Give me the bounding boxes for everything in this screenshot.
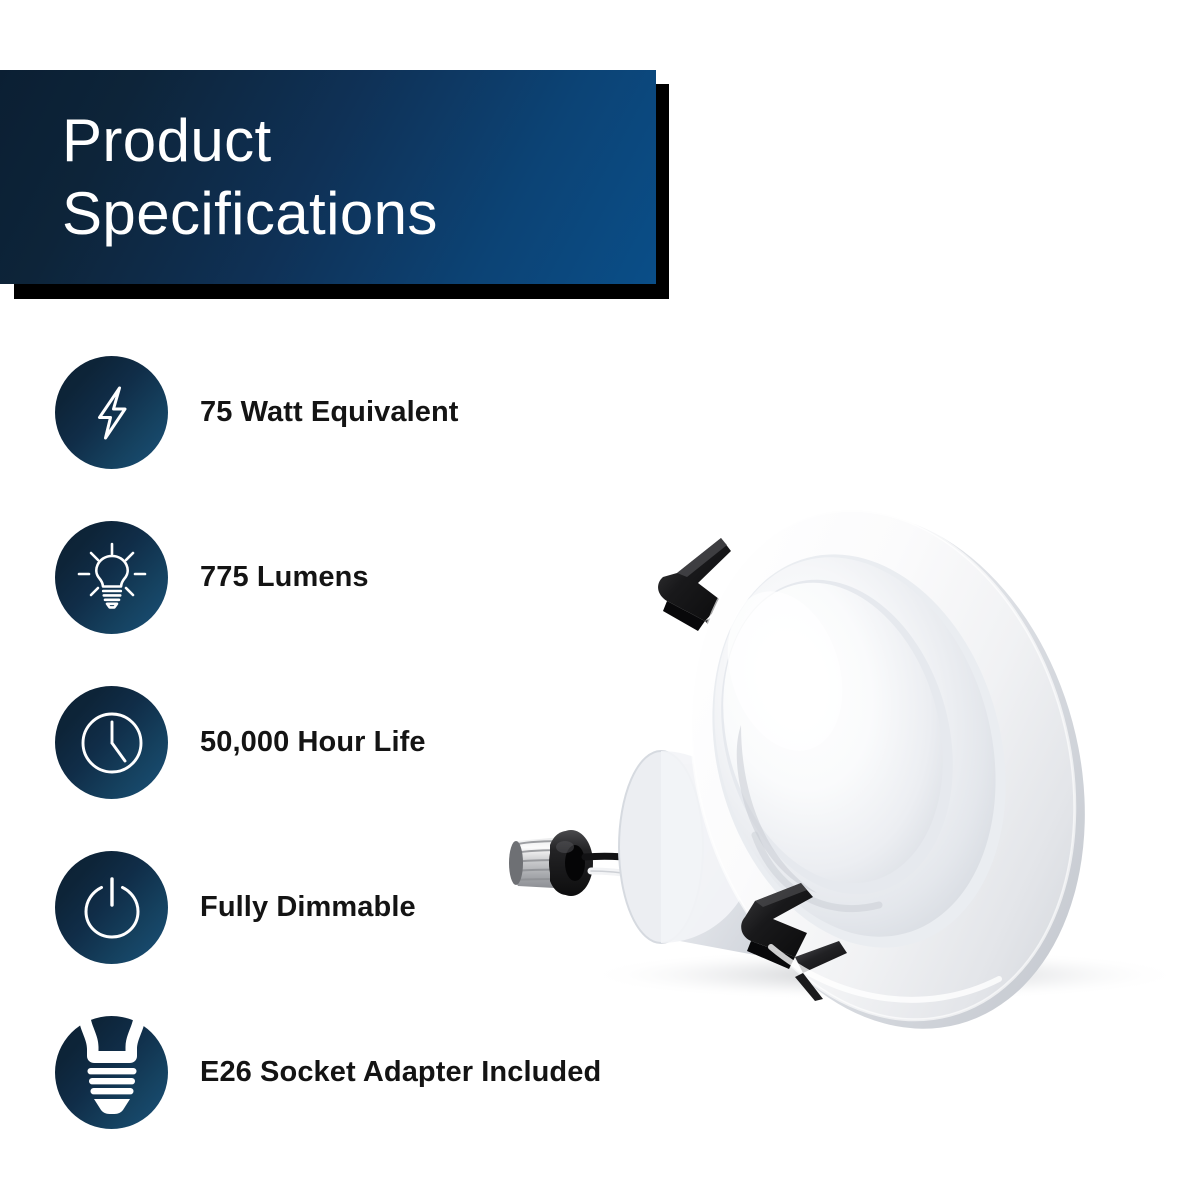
light-bulb-icon bbox=[55, 521, 168, 634]
e26-screw-base-adapter bbox=[509, 830, 593, 896]
spec-label: 50,000 Hour Life bbox=[200, 728, 426, 757]
product-specifications-infographic: Product Specifications 75 Watt Equivalen… bbox=[0, 0, 1200, 1200]
page-title-line-2: Specifications bbox=[62, 177, 656, 250]
socket-base-icon bbox=[55, 1016, 168, 1129]
recessed-led-downlight-photo bbox=[455, 395, 1200, 1035]
page-title-line-1: Product bbox=[62, 104, 656, 177]
spec-label: Fully Dimmable bbox=[200, 893, 416, 922]
spec-label: 75 Watt Equivalent bbox=[200, 398, 459, 427]
power-dimmer-icon bbox=[55, 851, 168, 964]
clock-icon bbox=[55, 686, 168, 799]
banner-panel: Product Specifications bbox=[0, 70, 656, 284]
header-banner: Product Specifications bbox=[0, 70, 670, 300]
lightning-bolt-icon bbox=[55, 356, 168, 469]
spec-label: E26 Socket Adapter Included bbox=[200, 1058, 601, 1087]
spec-label: 775 Lumens bbox=[200, 563, 369, 592]
